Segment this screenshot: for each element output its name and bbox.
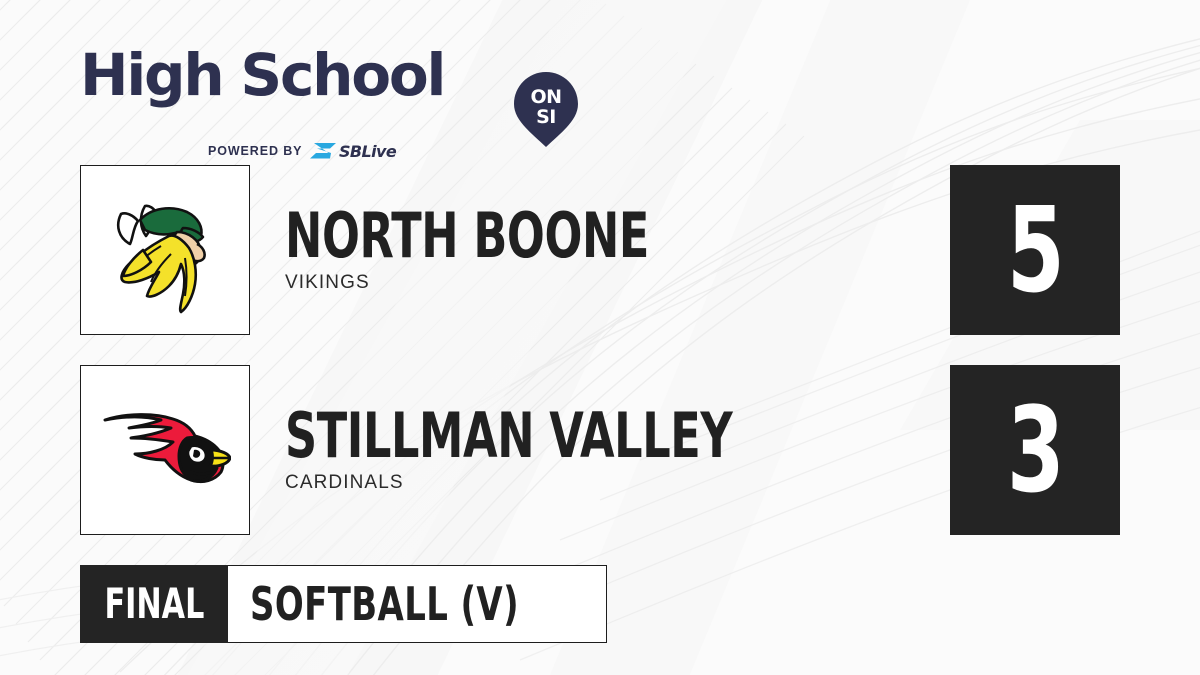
brand-header: High School ON SI POWERED BY SBLive <box>80 32 520 137</box>
team-name: STILLMAN VALLEY <box>285 406 732 466</box>
cardinal-head-logo-icon <box>99 394 231 506</box>
status-state-label: FINAL <box>104 583 204 625</box>
powered-by-label: POWERED BY <box>208 144 302 158</box>
team-row: STILLMAN VALLEY CARDINALS 3 <box>0 365 1200 535</box>
pin-text-si: SI <box>536 106 556 128</box>
team-mascot: VIKINGS <box>285 272 740 294</box>
team-text-block: NORTH BOONE VIKINGS <box>285 165 740 335</box>
team-score-box: 5 <box>950 165 1120 335</box>
sport-label: SOFTBALL (V) <box>250 581 519 627</box>
team-logo-box <box>80 365 250 535</box>
team-name: NORTH BOONE <box>285 206 649 266</box>
team-row: NORTH BOONE VIKINGS 5 <box>0 165 1200 335</box>
game-status-bar: FINAL SOFTBALL (V) <box>80 565 607 643</box>
sport-label-box: SOFTBALL (V) <box>228 565 607 643</box>
onsi-pin-icon: ON SI <box>512 70 580 148</box>
sblive-wordmark: SBLive <box>339 142 397 161</box>
team-logo-box <box>80 165 250 335</box>
vikings-head-logo-icon <box>99 184 231 316</box>
powered-by-group: POWERED BY SBLive <box>208 140 420 162</box>
pin-text-on: ON <box>530 86 561 108</box>
team-text-block: STILLMAN VALLEY CARDINALS <box>285 365 844 535</box>
team-score: 5 <box>1007 191 1064 309</box>
team-mascot: CARDINALS <box>285 472 844 494</box>
status-badge: FINAL <box>80 565 228 643</box>
team-score-box: 3 <box>950 365 1120 535</box>
team-score: 3 <box>1007 391 1064 509</box>
sblive-logo-icon: SBLive <box>310 140 420 162</box>
brand-title: High School <box>80 44 444 106</box>
